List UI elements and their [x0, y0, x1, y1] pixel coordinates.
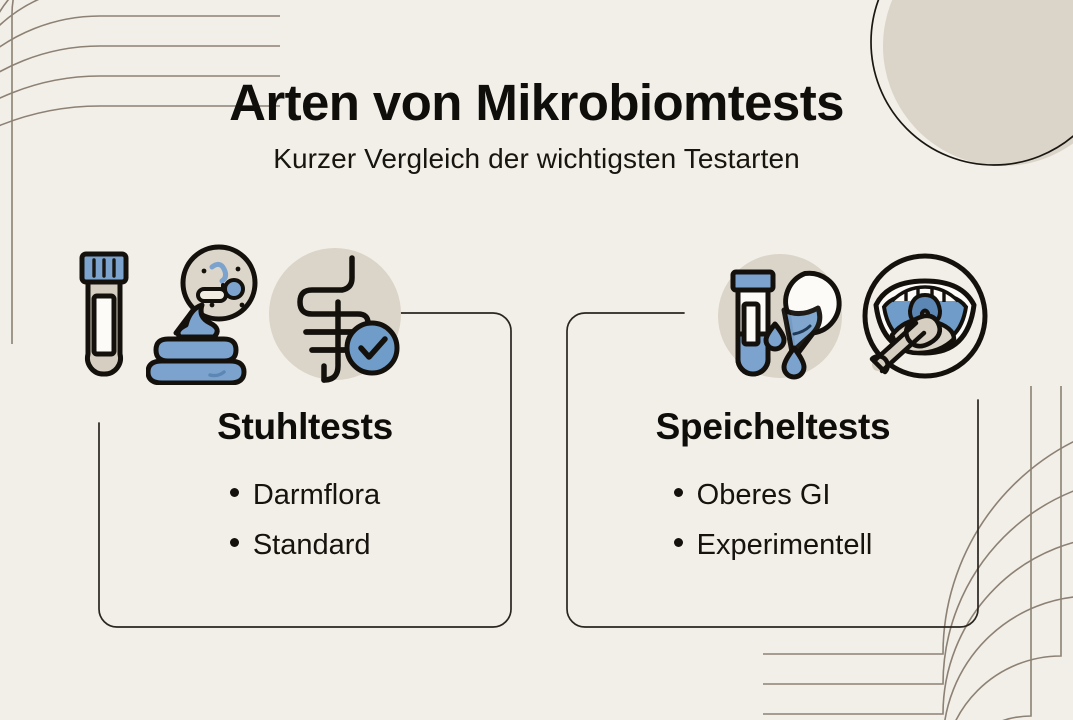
list-item: Standard — [230, 520, 380, 570]
page-title: Arten von Mikrobiomtests — [0, 74, 1073, 131]
saliva-tests-bullet-list: Oberes GI Experimentell — [674, 470, 873, 571]
list-item-label: Darmflora — [253, 470, 380, 520]
header: Arten von Mikrobiomtests Kurzer Vergleic… — [0, 74, 1073, 175]
list-item-label: Oberes GI — [697, 470, 831, 520]
stool-tests-bullet-list: Darmflora Standard — [230, 470, 380, 571]
page-subtitle: Kurzer Vergleich der wichtigsten Testart… — [0, 143, 1073, 175]
bullet-dot-icon — [674, 538, 683, 547]
list-item-label: Experimentell — [697, 520, 873, 570]
bullet-dot-icon — [674, 488, 683, 497]
list-item: Darmflora — [230, 470, 380, 520]
card-title-saliva: Speicheltests — [656, 406, 891, 448]
list-item: Oberes GI — [674, 470, 873, 520]
card-title-stool: Stuhltests — [217, 406, 393, 448]
bullet-dot-icon — [230, 488, 239, 497]
stool-tests-card[interactable]: Stuhltests Darmflora Standard — [99, 312, 511, 627]
saliva-tests-card[interactable]: Speicheltests Oberes GI Experimentell — [568, 312, 978, 627]
list-item: Experimentell — [674, 520, 873, 570]
list-item-label: Standard — [253, 520, 371, 570]
bullet-dot-icon — [230, 538, 239, 547]
infographic-canvas: Arten von Mikrobiomtests Kurzer Vergleic… — [0, 0, 1073, 720]
